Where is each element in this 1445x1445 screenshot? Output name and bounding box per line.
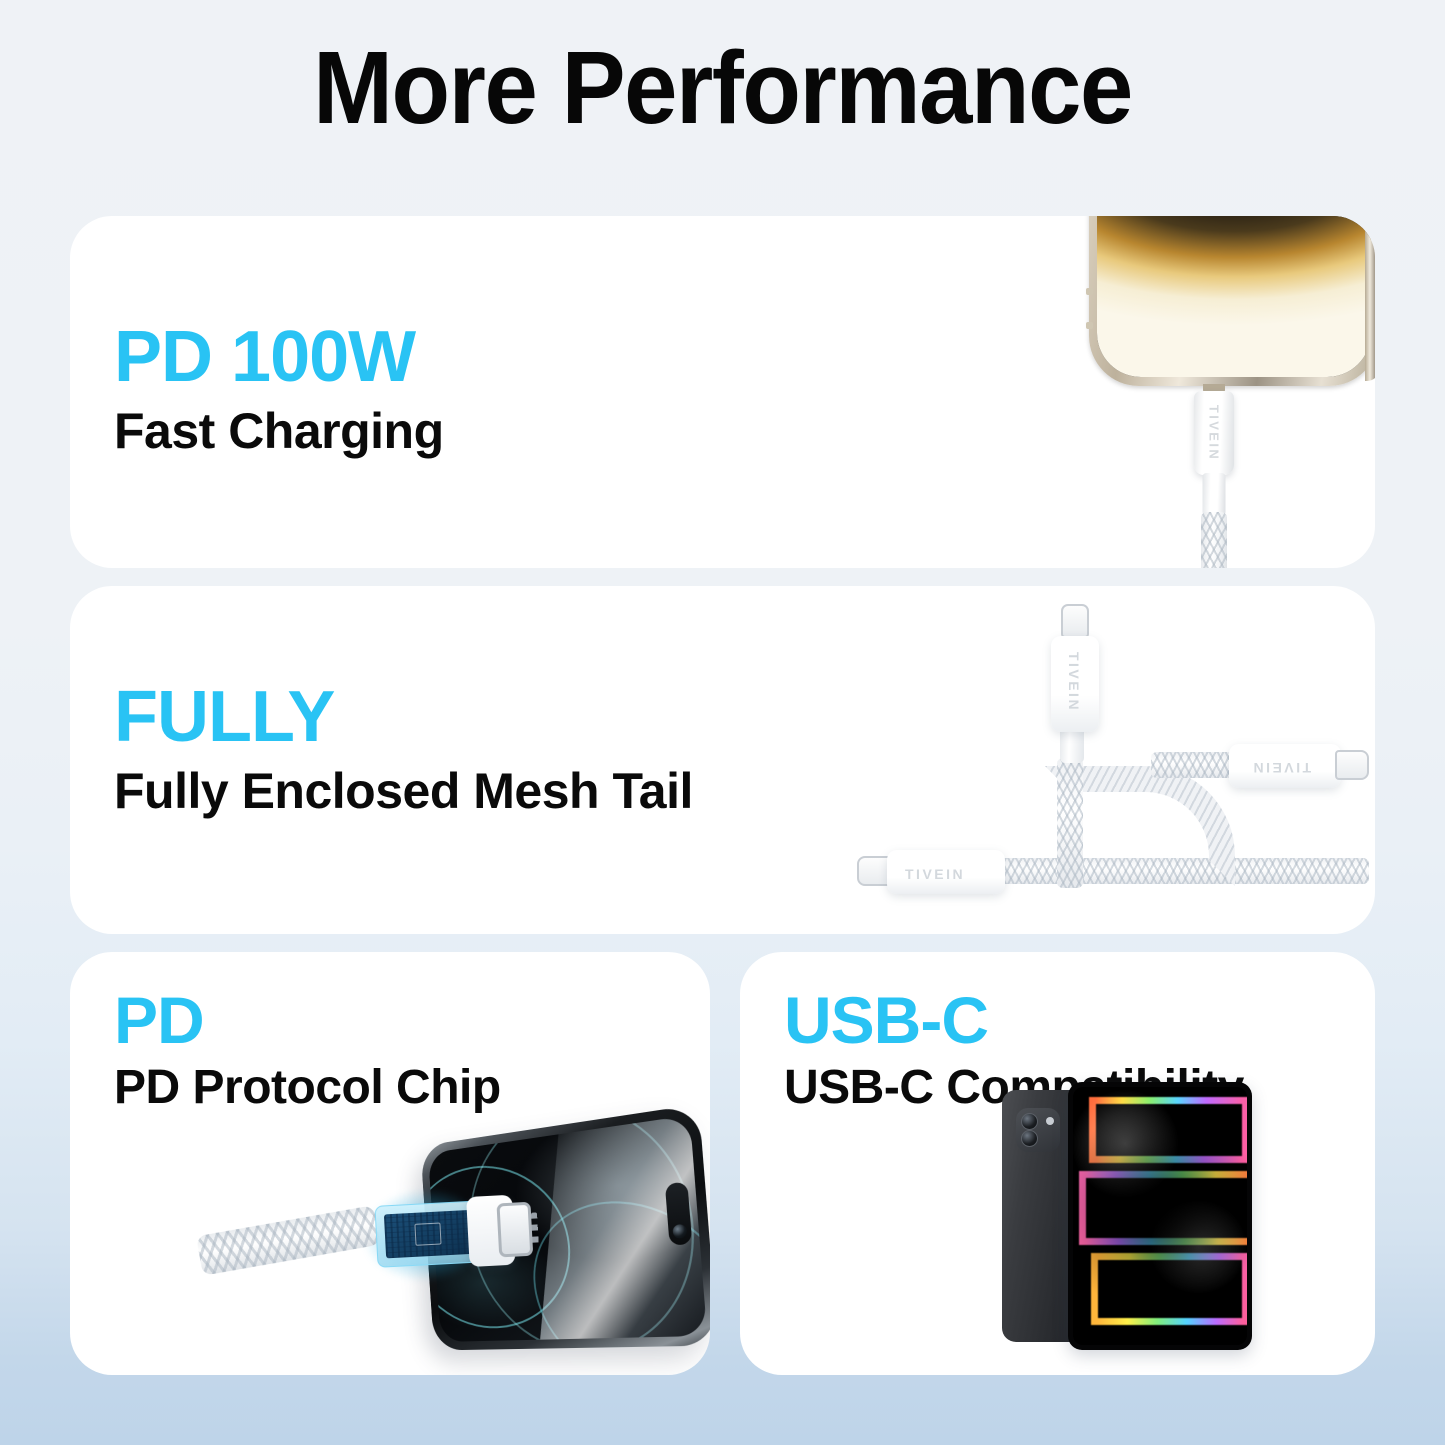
phone-charging-image: TIVEIN <box>1049 216 1375 568</box>
braided-cable-top <box>1057 758 1083 888</box>
brand-label: TIVEIN <box>1251 760 1311 776</box>
pd-protocol-chip-icon <box>414 1222 441 1245</box>
phone-camera-icon <box>665 1182 692 1246</box>
usb-c-connector-icon: TIVEIN <box>1194 391 1234 475</box>
brand-label: TIVEIN <box>1066 652 1082 712</box>
phone-button-icon <box>1086 322 1093 329</box>
camera-lens-icon <box>1021 1130 1038 1147</box>
transparent-usb-c-connector <box>368 1194 532 1274</box>
card-headline-pd-100w: PD 100W <box>114 316 415 398</box>
tablet-front-icon <box>1068 1082 1252 1350</box>
tablet-camera-module-icon <box>1016 1108 1060 1152</box>
card-subline-fast-charging: Fast Charging <box>114 402 444 460</box>
tablet-wallpaper <box>1073 1087 1247 1345</box>
card-headline-usb-c: USB-C <box>784 982 988 1058</box>
cable-strain-relief <box>1203 473 1226 515</box>
phone-wallpaper <box>1097 216 1371 377</box>
phone-button-icon <box>1086 288 1093 295</box>
camera-lens-icon <box>1021 1113 1038 1130</box>
usb-c-plug-tip-icon <box>496 1202 533 1258</box>
usb-c-plug-tip-icon <box>1061 604 1089 638</box>
feature-card-usb-c-compatibility: USB-C USB-C Compatibility <box>740 952 1375 1375</box>
wallpaper-vignette <box>1073 1087 1247 1345</box>
braided-cable <box>196 1205 380 1276</box>
usb-c-plug-tip-icon <box>1335 750 1369 780</box>
transparent-housing <box>374 1200 481 1267</box>
feature-card-fast-charging: PD 100W Fast Charging TIVEIN <box>70 216 1375 568</box>
usb-c-cable-image: TIVEIN TIVEIN TIVEIN <box>849 586 1369 934</box>
phone-frame-icon <box>1089 216 1375 386</box>
usb-c-connector-top: TIVEIN <box>1045 604 1103 734</box>
braided-cable <box>1201 512 1227 568</box>
phone-side-rail <box>1365 216 1375 381</box>
brand-label: TIVEIN <box>905 866 965 882</box>
circuit-board-icon <box>384 1210 472 1258</box>
tablet-image <box>1002 1082 1252 1352</box>
feature-card-mesh-tail: FULLY Fully Enclosed Mesh Tail TIVEIN TI… <box>70 586 1375 934</box>
camera-flash-icon <box>1046 1117 1054 1125</box>
usb-c-plug-tip-icon <box>857 856 891 886</box>
card-subline-pd-chip: PD Protocol Chip <box>114 1060 501 1115</box>
brand-label: TIVEIN <box>1207 405 1222 461</box>
pd-chip-image <box>248 1122 710 1375</box>
phone-screen <box>1097 216 1371 377</box>
feature-card-pd-chip: PD PD Protocol Chip <box>70 952 710 1375</box>
card-headline-pd: PD <box>114 982 204 1058</box>
card-subline-mesh-tail: Fully Enclosed Mesh Tail <box>114 762 693 820</box>
usb-c-connector-right: TIVEIN <box>1229 738 1369 792</box>
card-headline-fully: FULLY <box>114 676 334 758</box>
usb-c-connector-left: TIVEIN <box>857 844 1009 898</box>
page-title: More Performance <box>51 34 1395 142</box>
